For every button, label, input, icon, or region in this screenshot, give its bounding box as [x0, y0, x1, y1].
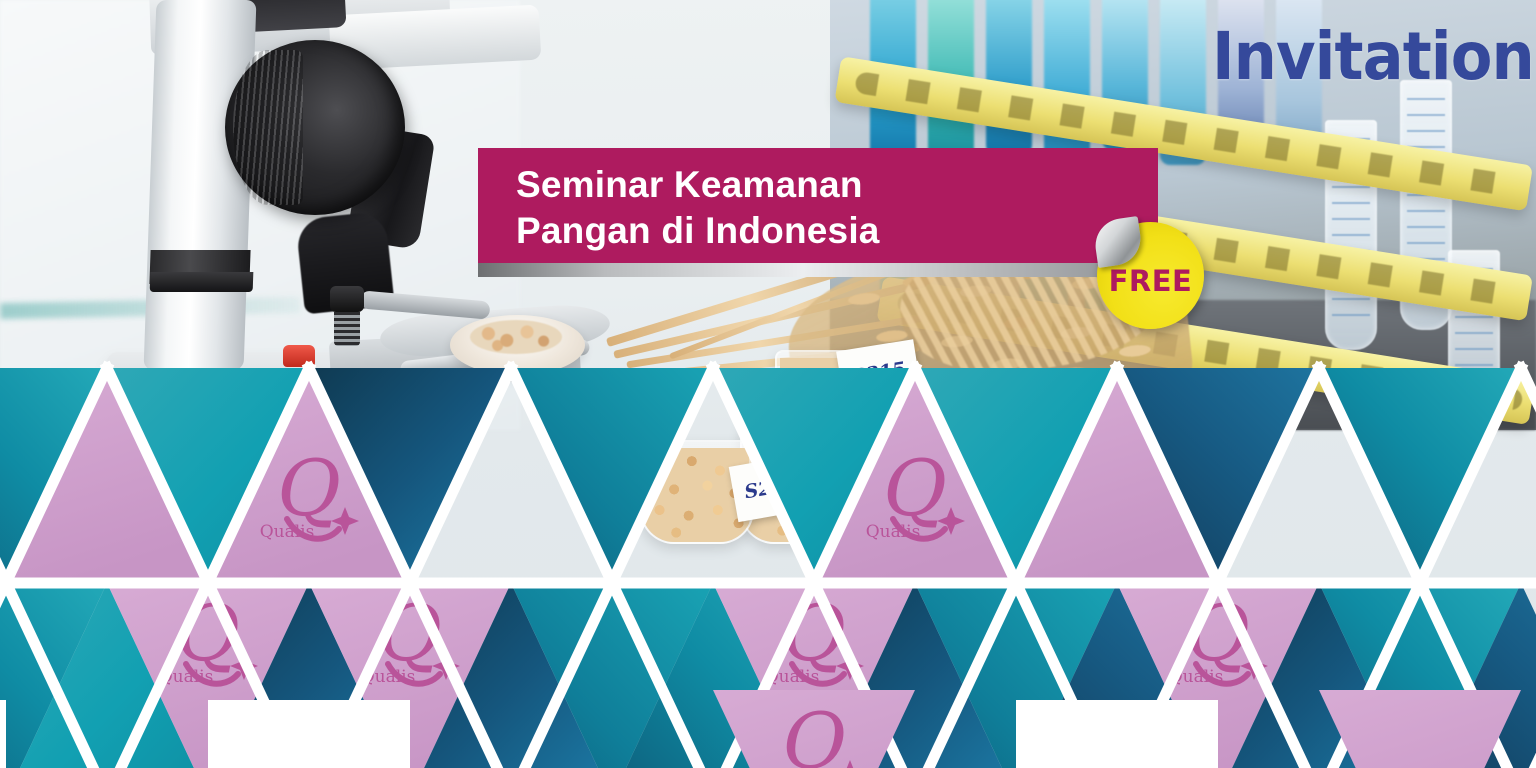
seminar-title-text: Seminar Keamanan Pangan di Indonesia	[516, 162, 1138, 253]
seminar-title-line-2: Pangan di Indonesia	[516, 208, 1138, 254]
sample-tag-label: S624	[989, 400, 1045, 428]
sample-tag-label: S371	[587, 409, 642, 436]
free-sticker-badge: FREE	[1097, 222, 1204, 329]
sample-tag-label: S274	[743, 473, 799, 504]
microscope-brand-label: 100780	[119, 383, 183, 428]
microscope-column	[144, 0, 257, 370]
petri-dish-grain	[470, 320, 562, 354]
microscope-clip-screw	[330, 286, 364, 312]
invitation-wordmark: Invitation	[1212, 24, 1534, 90]
microscope-column-band-lower	[150, 272, 254, 292]
seminar-title-banner: Seminar Keamanan Pangan di Indonesia	[478, 148, 1158, 263]
microscope-focus-knob	[225, 40, 405, 215]
sample-tag-s371: S371	[575, 392, 654, 453]
invitation-banner: 100780 S371 S315 SF23 S274	[0, 0, 1536, 768]
sample-tag-label: SF23	[815, 404, 871, 433]
sample-tag-s624: S624	[975, 382, 1059, 445]
sample-tag-sf23: SF23	[801, 385, 884, 453]
banner-metallic-underbar	[478, 263, 1184, 277]
microscope-clip-spring	[334, 306, 360, 346]
microscope-power-button	[283, 345, 315, 367]
seminar-title-line-1: Seminar Keamanan	[516, 162, 1138, 208]
lab-photo-background: 100780 S371 S315 SF23 S274	[0, 0, 1536, 768]
sample-tag-label: S315	[851, 358, 907, 388]
